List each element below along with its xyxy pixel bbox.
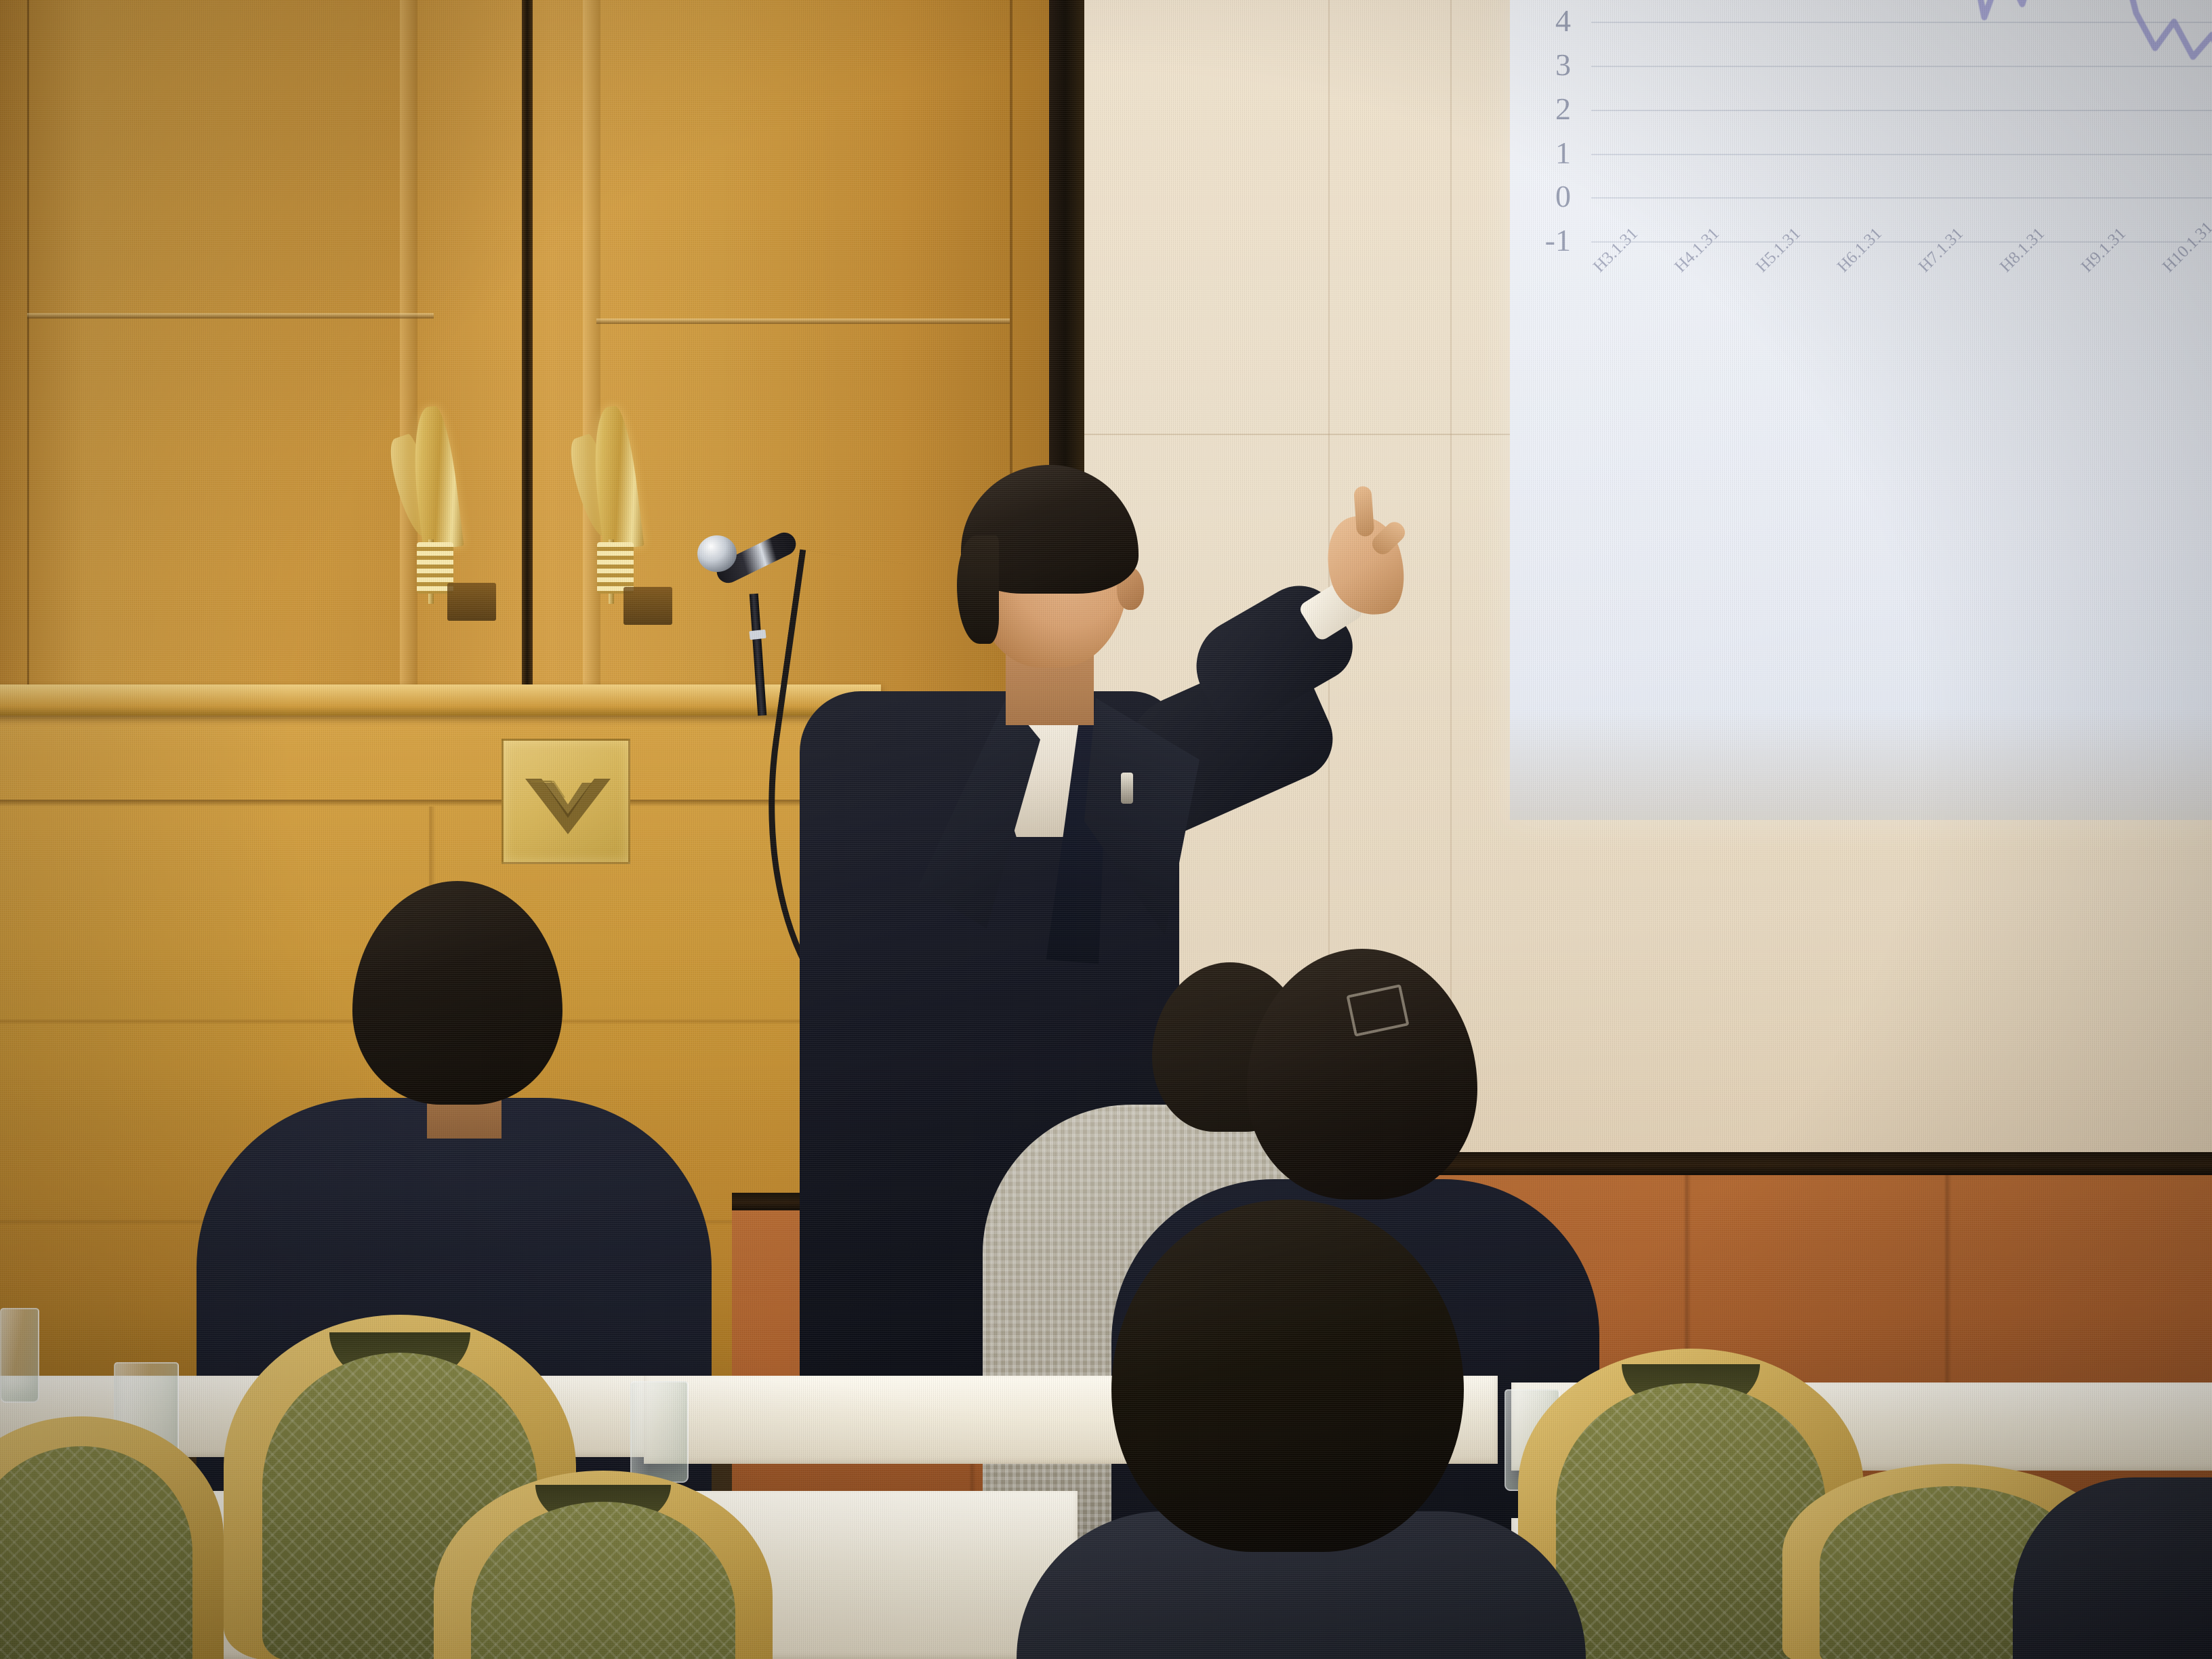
speaker-lapel-badge	[1121, 773, 1133, 804]
projected-chart: 4 3 2 1 0 -1 H3.1.31 H4.1.31 H5.1.31 H6.…	[1510, 0, 2212, 820]
water-glass[interactable]	[0, 1308, 39, 1403]
door-stile	[583, 0, 600, 718]
door-handle-right[interactable]	[575, 407, 649, 603]
door-rail	[27, 313, 434, 319]
door-lockplate	[447, 583, 496, 621]
emblem-plaque	[501, 739, 630, 864]
door-center-gap	[522, 0, 533, 718]
microphone-icon	[697, 535, 737, 572]
speaker-hair-side	[957, 535, 999, 644]
lectern-shadow-line	[0, 800, 881, 806]
door-stile	[400, 0, 417, 718]
door-handle-left[interactable]	[394, 407, 469, 603]
w-emblem-icon	[524, 776, 612, 838]
handle-band	[597, 542, 634, 594]
banquet-chair[interactable]	[0, 1416, 224, 1659]
banquet-chair[interactable]	[434, 1471, 773, 1659]
lectern-top-edge	[0, 684, 881, 716]
door-panel-line	[27, 0, 29, 718]
finger	[1353, 486, 1374, 537]
chair-rail	[1423, 1152, 2212, 1175]
microphone-collar	[749, 630, 766, 640]
chart-series-line	[1510, 0, 2212, 278]
photograph-scene: 4 3 2 1 0 -1 H3.1.31 H4.1.31 H5.1.31 H6.…	[0, 0, 2212, 1659]
wall-seam	[1450, 0, 1452, 1152]
door-rail	[596, 319, 1010, 324]
water-glass[interactable]	[630, 1381, 689, 1483]
door-lockplate	[623, 587, 672, 625]
screen-gradient-shadow	[1510, 712, 2212, 820]
projection-screen: 4 3 2 1 0 -1 H3.1.31 H4.1.31 H5.1.31 H6.…	[1510, 0, 2212, 820]
